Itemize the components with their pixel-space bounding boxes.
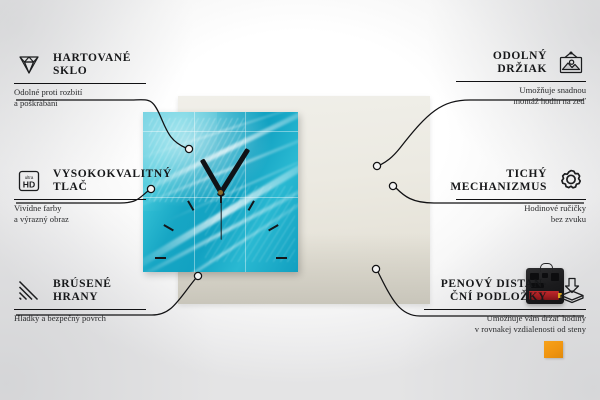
feature-title: BRÚSENÉ HRANY: [53, 278, 112, 305]
feature-tempered-glass: HARTOVANÉ SKLO Odolné proti rozbití a po…: [14, 50, 229, 108]
ultra-hd-badge-icon: ultra HD: [14, 166, 44, 196]
feature-header: ODOLNÝ DRŽIAK: [371, 48, 586, 78]
feature-durable-holder: ODOLNÝ DRŽIAK Umožňuje snadnou montáž ho…: [371, 48, 586, 106]
feature-subtitle: Umožňuje snadnou montáž hodin na zeď: [371, 85, 586, 106]
diagonal-lines-icon: [14, 276, 44, 306]
feature-title: HARTOVANÉ SKLO: [53, 52, 131, 79]
tick-3: [276, 257, 287, 259]
feature-high-quality-print: ultra HD VYSOKOKVALITNÝ TLAČ Vivídne far…: [14, 166, 229, 224]
feature-title: TICHÝ MECHANIZMUS: [450, 168, 547, 195]
feature-title: PENOVÝ DISTAN- ČNÍ PODLOŽKY: [441, 278, 547, 305]
feature-header: HARTOVANÉ SKLO: [14, 50, 229, 80]
feature-ground-edges: BRÚSENÉ HRANY Hladký a bezpečný povrch: [14, 276, 229, 324]
feature-silent-mechanism: TICHÝ MECHANIZMUS Hodinové ručičky bez z…: [371, 166, 586, 224]
tick-9: [155, 257, 166, 259]
feature-foam-spacers: PENOVÝ DISTAN- ČNÍ PODLOŽKY Umožňuje vám…: [371, 276, 586, 334]
feature-header: BRÚSENÉ HRANY: [14, 276, 229, 306]
feature-subtitle: Hodinové ručičky bez zvuku: [371, 203, 586, 224]
feature-subtitle: Hladký a bezpečný povrch: [14, 313, 229, 324]
tick-1: [247, 200, 254, 211]
feature-header: TICHÝ MECHANIZMUS: [371, 166, 586, 196]
feature-title: VYSOKOKVALITNÝ TLAČ: [53, 168, 172, 195]
feature-title: ODOLNÝ DRŽIAK: [493, 50, 547, 77]
feature-divider: [456, 199, 586, 200]
diamond-icon: [14, 50, 44, 80]
mechanism-hanger-icon: [540, 263, 553, 272]
arrow-onto-pad-icon: [556, 276, 586, 306]
hanging-picture-frame-icon: [556, 48, 586, 78]
feature-divider: [14, 199, 146, 200]
feature-subtitle: Odolné proti rozbití a poškrábání: [14, 87, 229, 108]
feature-header: PENOVÝ DISTAN- ČNÍ PODLOŽKY: [371, 276, 586, 306]
feature-divider: [14, 83, 146, 84]
feature-divider: [456, 81, 586, 82]
feature-subtitle: Umožňuje vám držať hodiny v rovnakej vzd…: [371, 313, 586, 334]
tick-2: [268, 224, 279, 231]
feature-divider: [424, 309, 586, 310]
svg-text:HD: HD: [23, 180, 35, 190]
feature-header: ultra HD VYSOKOKVALITNÝ TLAČ: [14, 166, 229, 196]
feature-subtitle: Vivídne farby a výrazný obraz: [14, 203, 229, 224]
tick-10: [163, 224, 174, 231]
foam-spacer-pad: [544, 341, 563, 358]
gear-icon: [556, 166, 586, 196]
infographic-canvas: HARTOVANÉ SKLO Odolné proti rozbití a po…: [0, 0, 600, 400]
feature-divider: [14, 309, 146, 310]
